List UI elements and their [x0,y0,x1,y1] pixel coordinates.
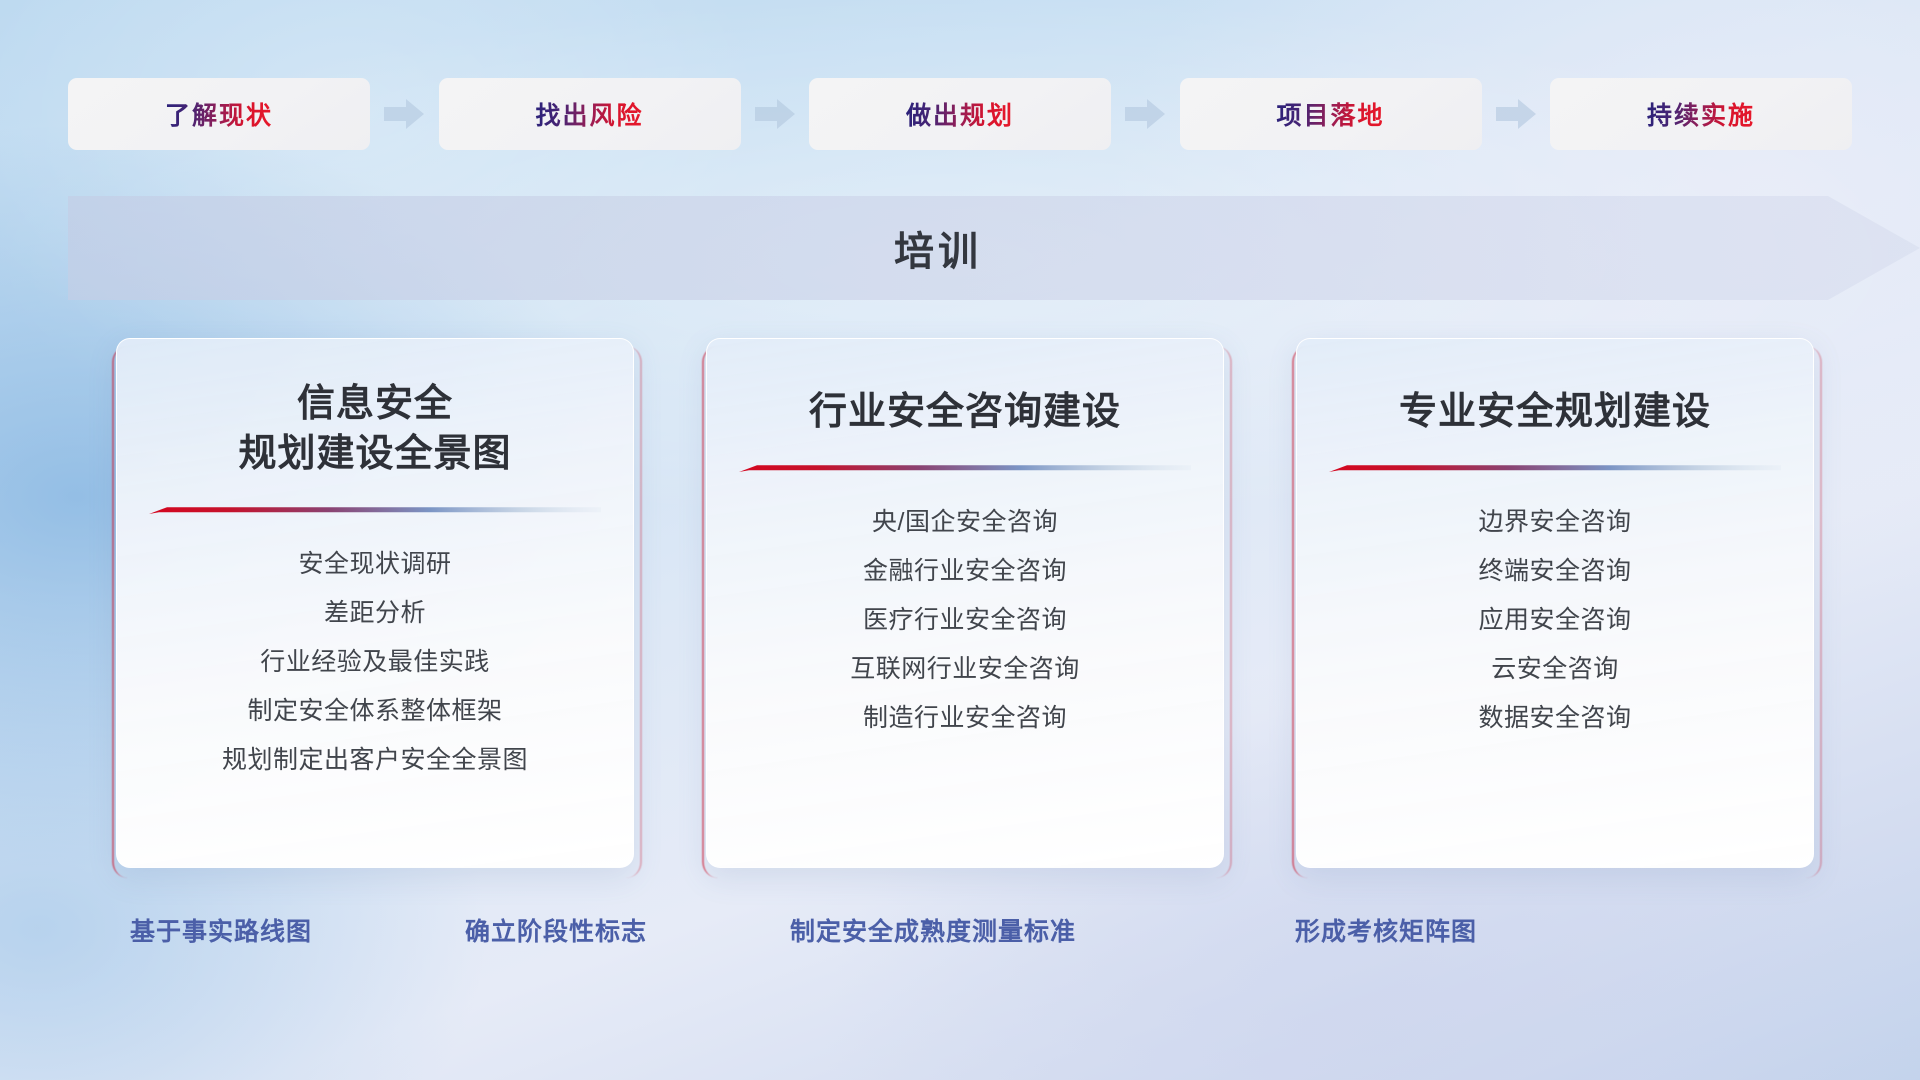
card-industry-security-consulting[interactable]: 行业安全咨询建设 [706,338,1224,868]
arrow-right-icon [1125,97,1165,131]
card-title: 专业安全规划建设 [1381,387,1729,437]
flow-step-2[interactable]: 做出规划 [809,78,1111,150]
card-list: 安全现状调研 差距分析 行业经验及最佳实践 制定安全体系整体框架 规划制定出客户… [117,540,633,785]
list-item: 差距分析 [324,589,426,638]
list-item: 数据安全咨询 [1478,694,1631,743]
flow-step-label: 项目落地 [1276,96,1384,132]
card-title: 信息安全 规划建设全景图 [220,379,529,479]
list-item: 规划制定出客户安全全景图 [222,736,528,785]
list-item: 云安全咨询 [1491,645,1619,694]
card-info-security-blueprint[interactable]: 信息安全 规划建设全景图 [116,338,634,868]
card-list: 边界安全咨询 终端安全咨询 应用安全咨询 云安全咨询 数据安全咨询 [1297,498,1813,743]
arrow-right-icon [755,97,795,131]
card-divider [149,505,601,514]
caption-0: 基于事实路线图 [130,912,312,948]
list-item: 边界安全咨询 [1478,498,1631,547]
arrow-right-icon [1496,97,1536,131]
list-item: 制定安全体系整体框架 [247,687,502,736]
card-wrapper-2: 专业安全规划建设 [1290,338,1820,878]
bottom-captions: 基于事实路线图 确立阶段性标志 制定安全成熟度测量标准 形成考核矩阵图 [0,912,1920,962]
list-item: 金融行业安全咨询 [863,547,1067,596]
banner-title: 培训 [68,196,1808,300]
card-title-line: 信息安全 [238,379,511,429]
card-title: 行业安全咨询建设 [791,387,1139,437]
card-title-line: 行业安全咨询建设 [809,387,1121,437]
list-item: 央/国企安全咨询 [872,498,1058,547]
card-list: 央/国企安全咨询 金融行业安全咨询 医疗行业安全咨询 互联网行业安全咨询 制造行… [707,498,1223,743]
card-wrapper-1: 行业安全咨询建设 [700,338,1230,878]
flow-step-label: 找出风险 [535,96,643,132]
training-banner: 培训 [68,196,1920,300]
flow-step-3[interactable]: 项目落地 [1180,78,1482,150]
list-item: 医疗行业安全咨询 [863,596,1067,645]
arrow-right-icon [384,97,424,131]
caption-2: 制定安全成熟度测量标准 [790,912,1076,948]
list-item: 安全现状调研 [298,540,451,589]
card-divider [1329,463,1781,472]
list-item: 应用安全咨询 [1478,596,1631,645]
process-flow-row: 了解现状 找出风险 做出规划 项目落地 持续实施 [68,78,1852,150]
card-professional-security-planning[interactable]: 专业安全规划建设 [1296,338,1814,868]
flow-step-label: 了解现状 [165,96,273,132]
card-title-line: 专业安全规划建设 [1399,387,1711,437]
card-title-line: 规划建设全景图 [238,429,511,479]
card-divider [739,463,1191,472]
list-item: 行业经验及最佳实践 [260,638,490,687]
list-item: 互联网行业安全咨询 [850,645,1080,694]
flow-step-label: 持续实施 [1647,96,1755,132]
list-item: 制造行业安全咨询 [863,694,1067,743]
cards-row: 信息安全 规划建设全景图 [110,338,1820,878]
flow-step-label: 做出规划 [906,96,1014,132]
flow-step-4[interactable]: 持续实施 [1550,78,1852,150]
caption-3: 形成考核矩阵图 [1295,912,1477,948]
caption-1: 确立阶段性标志 [465,912,647,948]
flow-step-0[interactable]: 了解现状 [68,78,370,150]
flow-step-1[interactable]: 找出风险 [439,78,741,150]
list-item: 终端安全咨询 [1478,547,1631,596]
card-wrapper-0: 信息安全 规划建设全景图 [110,338,640,878]
